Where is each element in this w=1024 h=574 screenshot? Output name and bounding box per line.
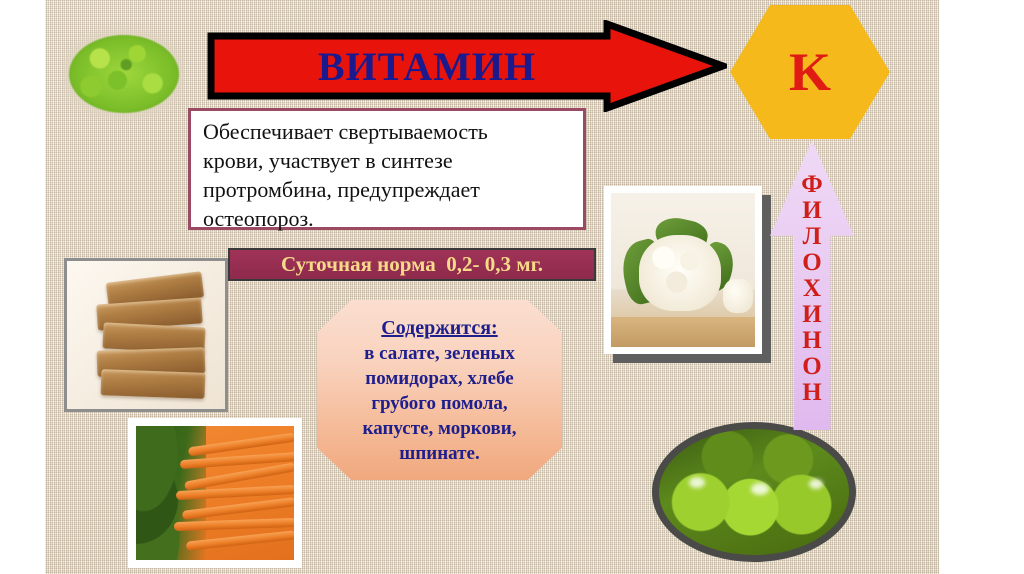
phylloquinone-letter-stack: Ф И Л О Х И Н О Н [770,172,854,422]
cauliflower-head-graphic [639,235,721,311]
bread-photo-inner [67,261,225,409]
phylloquinone-arrow: Ф И Л О Х И Н О Н [770,140,854,430]
daily-norm-banner: Суточная норма 0,2- 0,3 мг. [228,248,596,281]
phylloquinone-letter: Н [802,328,821,354]
food-sources-heading: Содержится: [381,316,497,341]
lettuce-head-graphic [69,35,179,113]
cauliflower-photo [604,186,762,354]
vitamin-title-label: ВИТАМИН [207,20,647,112]
phylloquinone-letter: И [802,198,821,224]
phylloquinone-letter: Х [803,276,821,302]
carrots-photo [128,418,302,568]
vitamin-description-box: Обеспечивает свертываемость крови, участ… [188,108,586,230]
food-sources-line: капусте, моркови, [363,416,517,441]
phylloquinone-letter: О [802,250,821,276]
phylloquinone-letter: И [802,302,821,328]
description-line: протромбина, предупреждает [203,175,573,204]
tomato-highlight [751,483,769,495]
tomato-highlight [689,477,705,488]
tomato-highlight [809,479,823,489]
food-sources-line: грубого помола, [371,391,507,416]
bread-slice [101,369,206,399]
cauliflower-photo-inner [611,193,755,347]
cutting-board-graphic [611,317,755,347]
vitamin-title-arrow: ВИТАМИН [207,20,727,112]
cauliflower-floret [723,279,753,313]
daily-norm-label: Суточная норма 0,2- 0,3 мг. [281,252,543,277]
phylloquinone-letter: Л [803,224,822,250]
food-sources-line: шпинате. [399,441,479,466]
description-line: Обеспечивает свертываемость [203,117,573,146]
food-sources-text: Содержится: в салате, зеленых помидорах,… [317,300,562,480]
lettuce-photo [63,23,185,123]
vitamin-letter-hexagon: K [730,5,890,139]
bread-photo [64,258,228,412]
phylloquinone-letter: Ф [801,172,822,198]
presentation-slide: ВИТАМИН K Ф И Л О Х И Н О Н Обеспечивает… [0,0,1024,574]
phylloquinone-letter: Н [802,380,821,406]
vitamin-letter-label: K [730,5,890,139]
carrots-photo-inner [136,426,294,560]
food-sources-octagon: Содержится: в салате, зеленых помидорах,… [317,300,562,480]
green-tomatoes-photo [652,422,856,562]
description-line: крови, участвует в синтезе [203,146,573,175]
phylloquinone-letter: О [802,354,821,380]
description-line: остеопороз. [203,204,573,233]
food-sources-line: помидорах, хлебе [365,366,513,391]
food-sources-line: в салате, зеленых [364,341,515,366]
